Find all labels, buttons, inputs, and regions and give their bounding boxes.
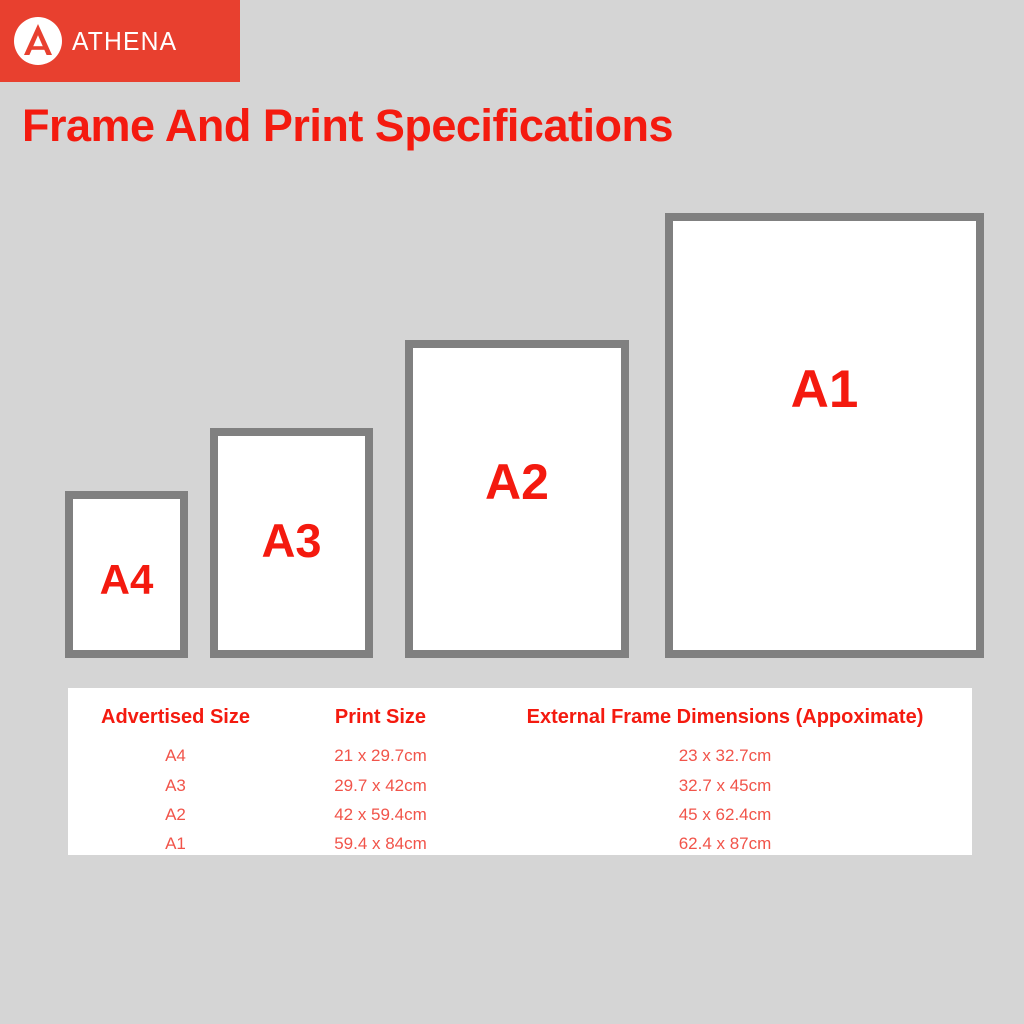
frame-label-a2: A2 <box>485 457 549 507</box>
frame-label-a1: A1 <box>791 363 859 416</box>
cell-external-frame: 45 x 62.4cm <box>478 800 972 829</box>
table-row: A1 59.4 x 84cm 62.4 x 87cm <box>68 829 972 858</box>
frame-swatch-a4: A4 <box>65 491 188 658</box>
cell-print-size: 59.4 x 84cm <box>283 829 478 858</box>
column-header-external-frame-dimensions: External Frame Dimensions (Appoximate) <box>478 700 972 741</box>
frame-swatch-a3: A3 <box>210 428 373 658</box>
column-header-print-size: Print Size <box>283 700 478 741</box>
cell-external-frame: 32.7 x 45cm <box>478 771 972 800</box>
cell-print-size: 21 x 29.7cm <box>283 741 478 770</box>
frame-swatch-a1: A1 <box>665 213 984 658</box>
cell-advertised-size: A3 <box>68 771 283 800</box>
table-row: A3 29.7 x 42cm 32.7 x 45cm <box>68 771 972 800</box>
frame-size-diagram: A4 A3 A2 A1 <box>0 0 1024 690</box>
frame-swatch-a2: A2 <box>405 340 629 658</box>
cell-advertised-size: A1 <box>68 829 283 858</box>
table-row: A4 21 x 29.7cm 23 x 32.7cm <box>68 741 972 770</box>
table-header-row: Advertised Size Print Size External Fram… <box>68 700 972 741</box>
cell-advertised-size: A4 <box>68 741 283 770</box>
cell-print-size: 29.7 x 42cm <box>283 771 478 800</box>
frame-label-a4: A4 <box>100 559 154 601</box>
frame-label-a3: A3 <box>261 517 321 564</box>
specification-table: Advertised Size Print Size External Fram… <box>68 688 972 855</box>
cell-advertised-size: A2 <box>68 800 283 829</box>
column-header-advertised-size: Advertised Size <box>68 700 283 741</box>
cell-external-frame: 62.4 x 87cm <box>478 829 972 858</box>
cell-external-frame: 23 x 32.7cm <box>478 741 972 770</box>
table-row: A2 42 x 59.4cm 45 x 62.4cm <box>68 800 972 829</box>
cell-print-size: 42 x 59.4cm <box>283 800 478 829</box>
